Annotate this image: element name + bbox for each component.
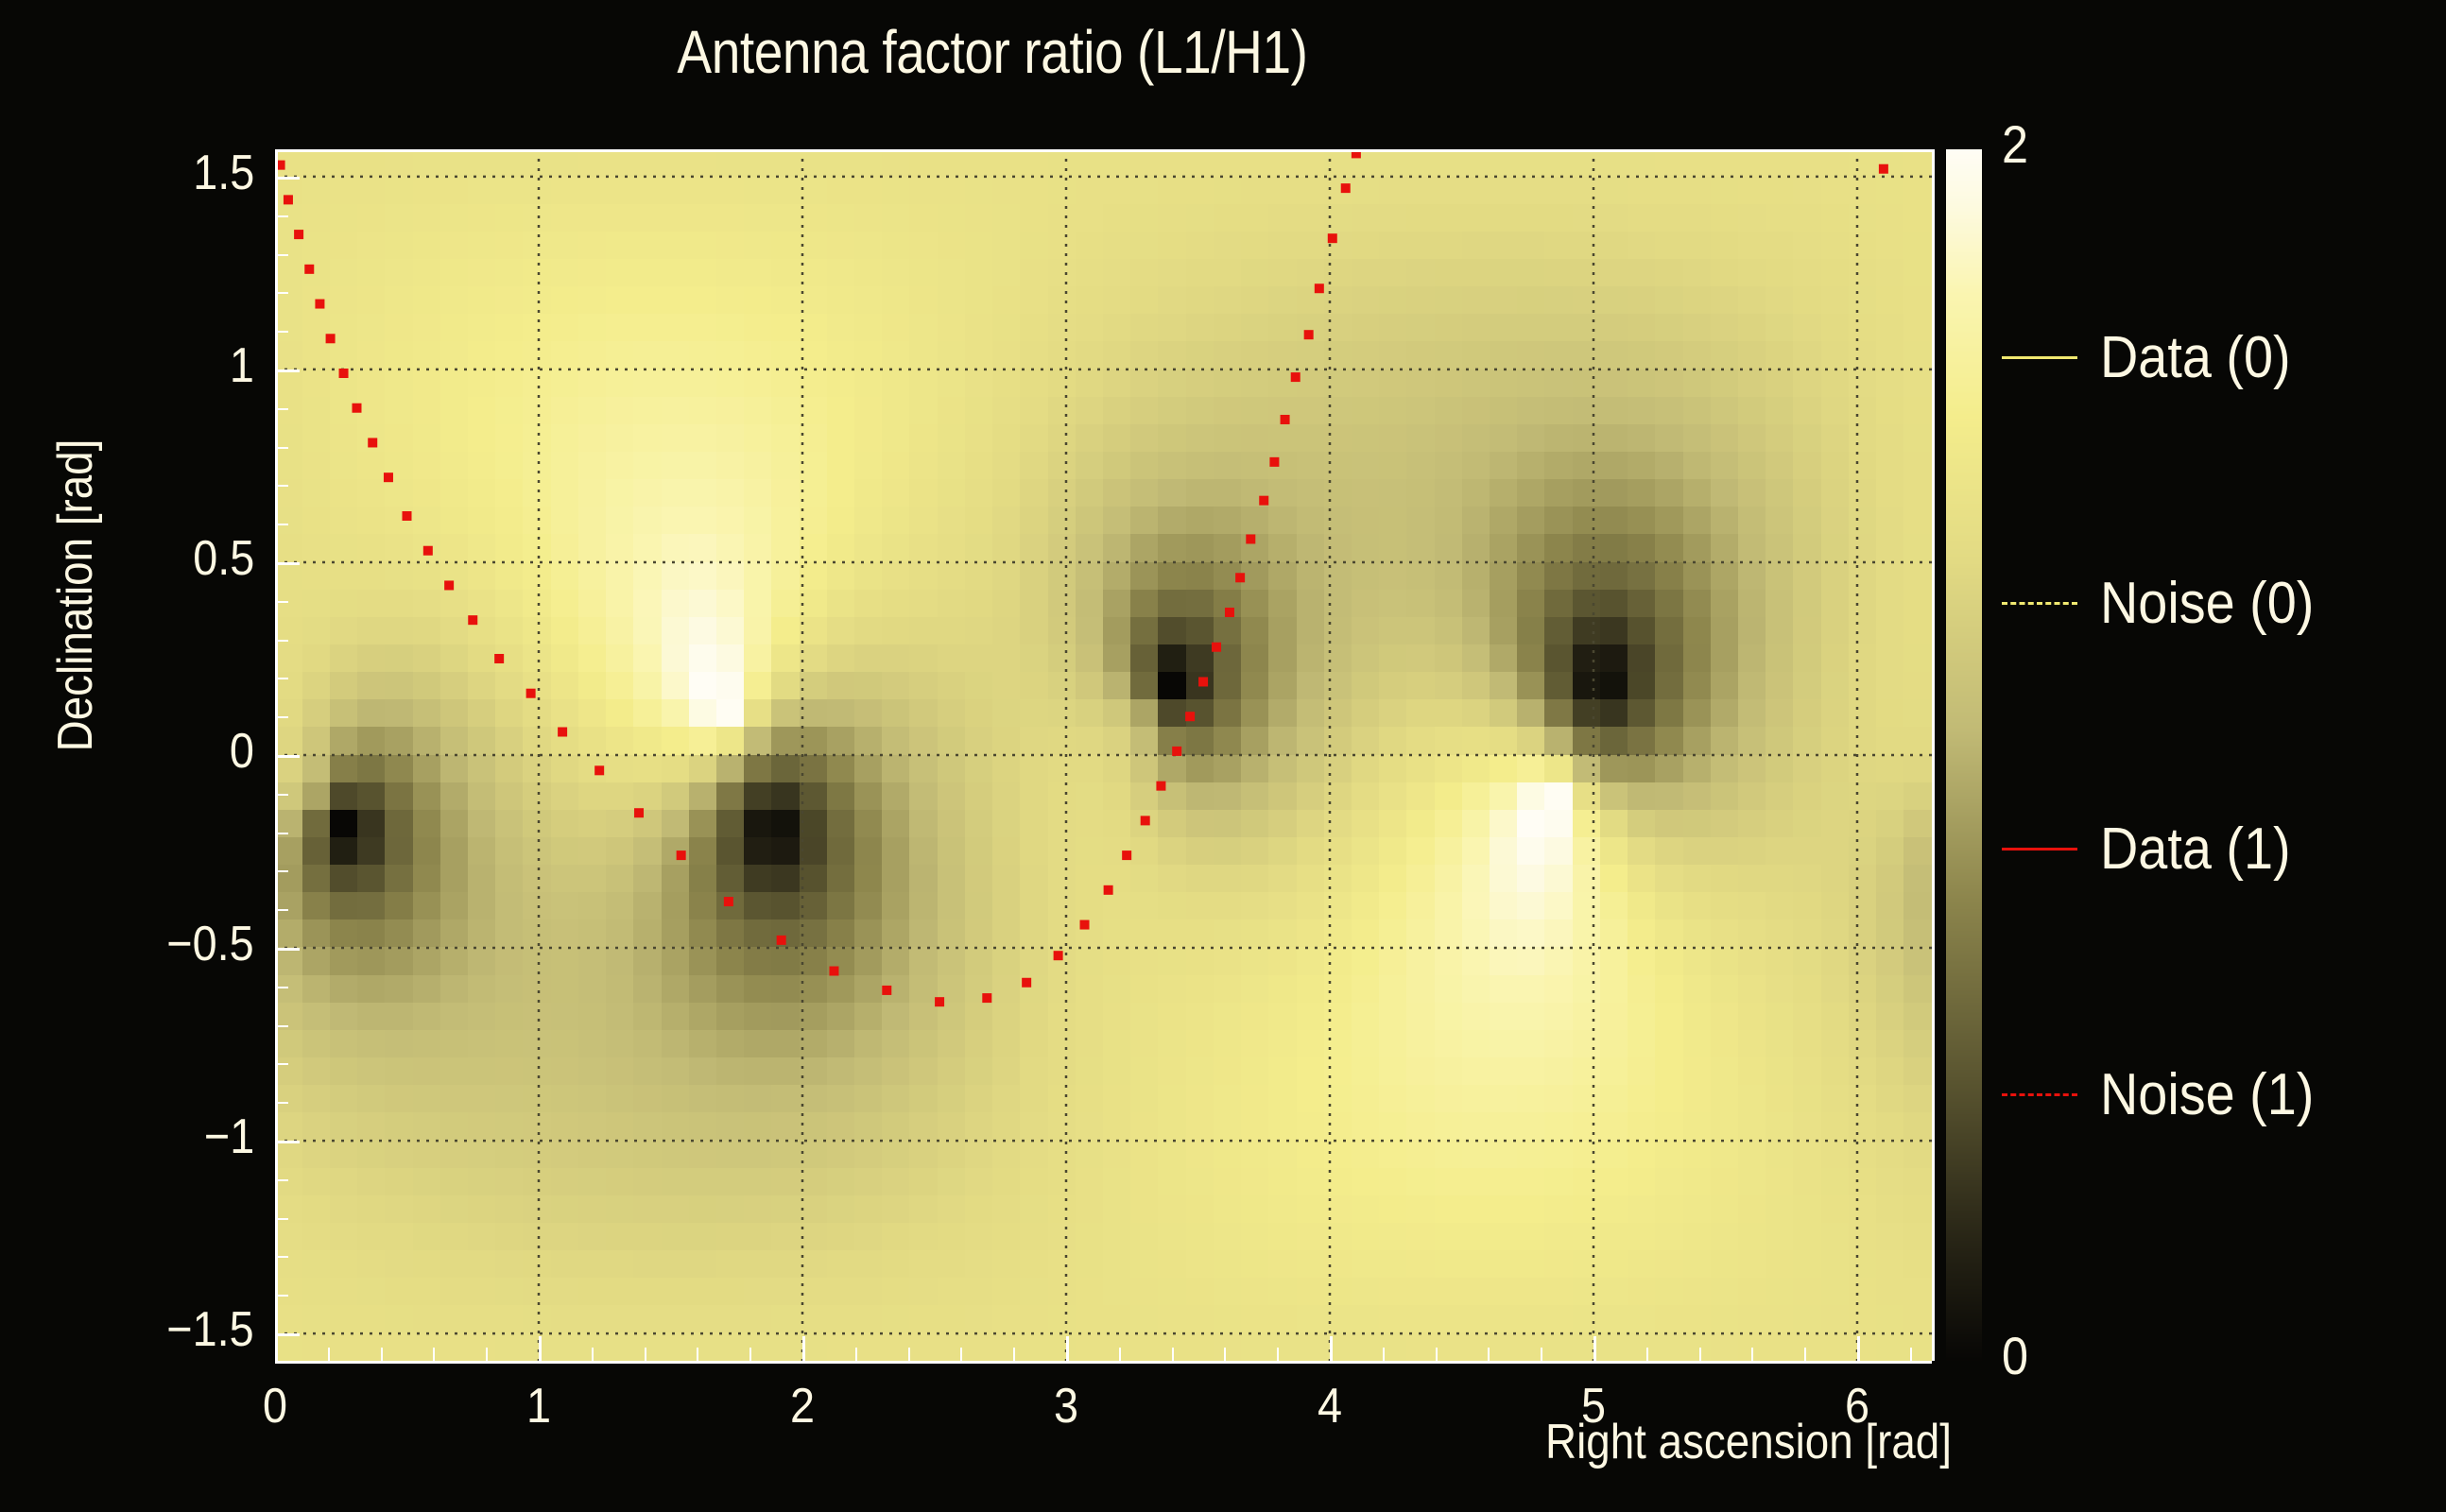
y-tick-minor — [275, 485, 288, 487]
y-tick-label: 1.5 — [193, 145, 254, 201]
y-tick-minor — [275, 1218, 288, 1220]
x-tick-minor — [381, 1348, 383, 1361]
x-tick-minor — [855, 1348, 857, 1361]
frame-top — [275, 149, 1932, 152]
line-dashed-icon — [2002, 1093, 2077, 1096]
x-tick-minor — [1330, 1348, 1332, 1361]
x-tick-minor — [1013, 1348, 1015, 1361]
x-tick-minor — [697, 1348, 698, 1361]
y-tick-minor — [275, 447, 288, 449]
y-tick-minor — [275, 1333, 288, 1335]
legend-item[interactable]: Data (1) — [2002, 811, 2312, 886]
y-tick-minor — [275, 1141, 288, 1143]
x-tick-minor — [1172, 1348, 1174, 1361]
data-overlay-curve — [275, 149, 1932, 1361]
legend-item[interactable]: Noise (0) — [2002, 565, 2338, 641]
x-tick-minor — [1593, 1348, 1595, 1361]
line-solid-icon — [2002, 356, 2077, 359]
page-title: Antenna factor ratio (L1/H1) — [139, 17, 1846, 87]
y-tick-minor — [275, 1063, 288, 1065]
y-tick-minor — [275, 177, 288, 179]
x-axis-title: Right ascension [rad] — [1490, 1414, 2007, 1470]
legend-item-label: Noise (0) — [2100, 570, 2314, 637]
y-tick-label: 0.5 — [193, 530, 254, 587]
plot-canvas: Antenna factor ratio (L1/H1) 01234561.51… — [0, 0, 2446, 1512]
colorbar[interactable] — [1946, 149, 1982, 1361]
x-tick-minor — [539, 1348, 541, 1361]
y-tick-minor — [275, 987, 288, 988]
legend: Data (0)Noise (0)Data (1)Noise (1) — [2002, 149, 2446, 1361]
y-tick-minor — [275, 1295, 288, 1297]
y-tick-minor — [275, 755, 288, 757]
y-tick-minor — [275, 369, 288, 371]
x-tick-minor — [592, 1348, 594, 1361]
x-tick-minor — [645, 1348, 646, 1361]
x-tick-minor — [1541, 1348, 1542, 1361]
x-tick-minor — [433, 1348, 435, 1361]
y-tick-label: −0.5 — [167, 916, 254, 972]
y-tick-minor — [275, 601, 288, 603]
y-tick-minor — [275, 215, 288, 217]
x-tick-minor — [1699, 1348, 1701, 1361]
x-tick-minor — [1751, 1348, 1753, 1361]
x-tick-minor — [1277, 1348, 1279, 1361]
legend-item[interactable]: Noise (1) — [2002, 1057, 2338, 1132]
y-tick-minor — [275, 909, 288, 911]
x-tick-major — [275, 1336, 278, 1361]
y-axis-title: Declination [rad] — [47, 304, 104, 886]
y-tick-minor — [275, 1102, 288, 1104]
x-tick-minor — [1804, 1348, 1806, 1361]
y-tick-minor — [275, 948, 288, 950]
y-tick-label: −1 — [204, 1108, 254, 1165]
y-tick-minor — [275, 1025, 288, 1027]
x-tick-minor — [749, 1348, 751, 1361]
x-tick-minor — [960, 1348, 962, 1361]
x-tick-minor — [1224, 1348, 1226, 1361]
y-tick-label: 0 — [230, 723, 254, 780]
x-tick-minor — [802, 1348, 804, 1361]
y-tick-minor — [275, 640, 288, 642]
x-tick-minor — [1910, 1348, 1912, 1361]
y-tick-minor — [275, 331, 288, 333]
y-tick-minor — [275, 833, 288, 834]
y-tick-minor — [275, 870, 288, 872]
x-tick-minor — [1488, 1348, 1490, 1361]
x-tick-minor — [1646, 1348, 1648, 1361]
x-tick-minor — [1066, 1348, 1068, 1361]
y-tick-label: 1 — [230, 337, 254, 394]
x-tick-minor — [1857, 1348, 1859, 1361]
x-tick-label: 3 — [1015, 1378, 1117, 1435]
legend-item-label: Data (0) — [2100, 324, 2291, 391]
y-tick-minor — [275, 524, 288, 525]
y-tick-minor — [275, 1256, 288, 1258]
x-tick-label: 4 — [1279, 1378, 1381, 1435]
frame-right — [1932, 149, 1935, 1361]
y-tick-minor — [275, 716, 288, 718]
x-tick-label: 0 — [224, 1378, 326, 1435]
x-tick-label: 2 — [751, 1378, 853, 1435]
x-tick-label: 1 — [488, 1378, 590, 1435]
heatmap-frame[interactable] — [275, 149, 1932, 1361]
legend-item-label: Noise (1) — [2100, 1061, 2314, 1128]
x-tick-minor — [1119, 1348, 1121, 1361]
y-tick-minor — [275, 408, 288, 410]
x-tick-minor — [908, 1348, 910, 1361]
y-tick-minor — [275, 1179, 288, 1181]
frame-bottom — [275, 1361, 1932, 1364]
y-tick-minor — [275, 562, 288, 564]
x-tick-minor — [1383, 1348, 1385, 1361]
legend-item[interactable]: Data (0) — [2002, 319, 2312, 395]
x-tick-minor — [486, 1348, 488, 1361]
line-solid-icon — [2002, 848, 2077, 850]
y-tick-label: −1.5 — [167, 1301, 254, 1358]
y-tick-minor — [275, 254, 288, 256]
y-tick-minor — [275, 292, 288, 294]
line-dashed-icon — [2002, 602, 2077, 605]
y-tick-minor — [275, 678, 288, 679]
x-tick-minor — [328, 1348, 330, 1361]
y-tick-minor — [275, 794, 288, 796]
legend-item-label: Data (1) — [2100, 816, 2291, 883]
x-tick-minor — [1436, 1348, 1438, 1361]
